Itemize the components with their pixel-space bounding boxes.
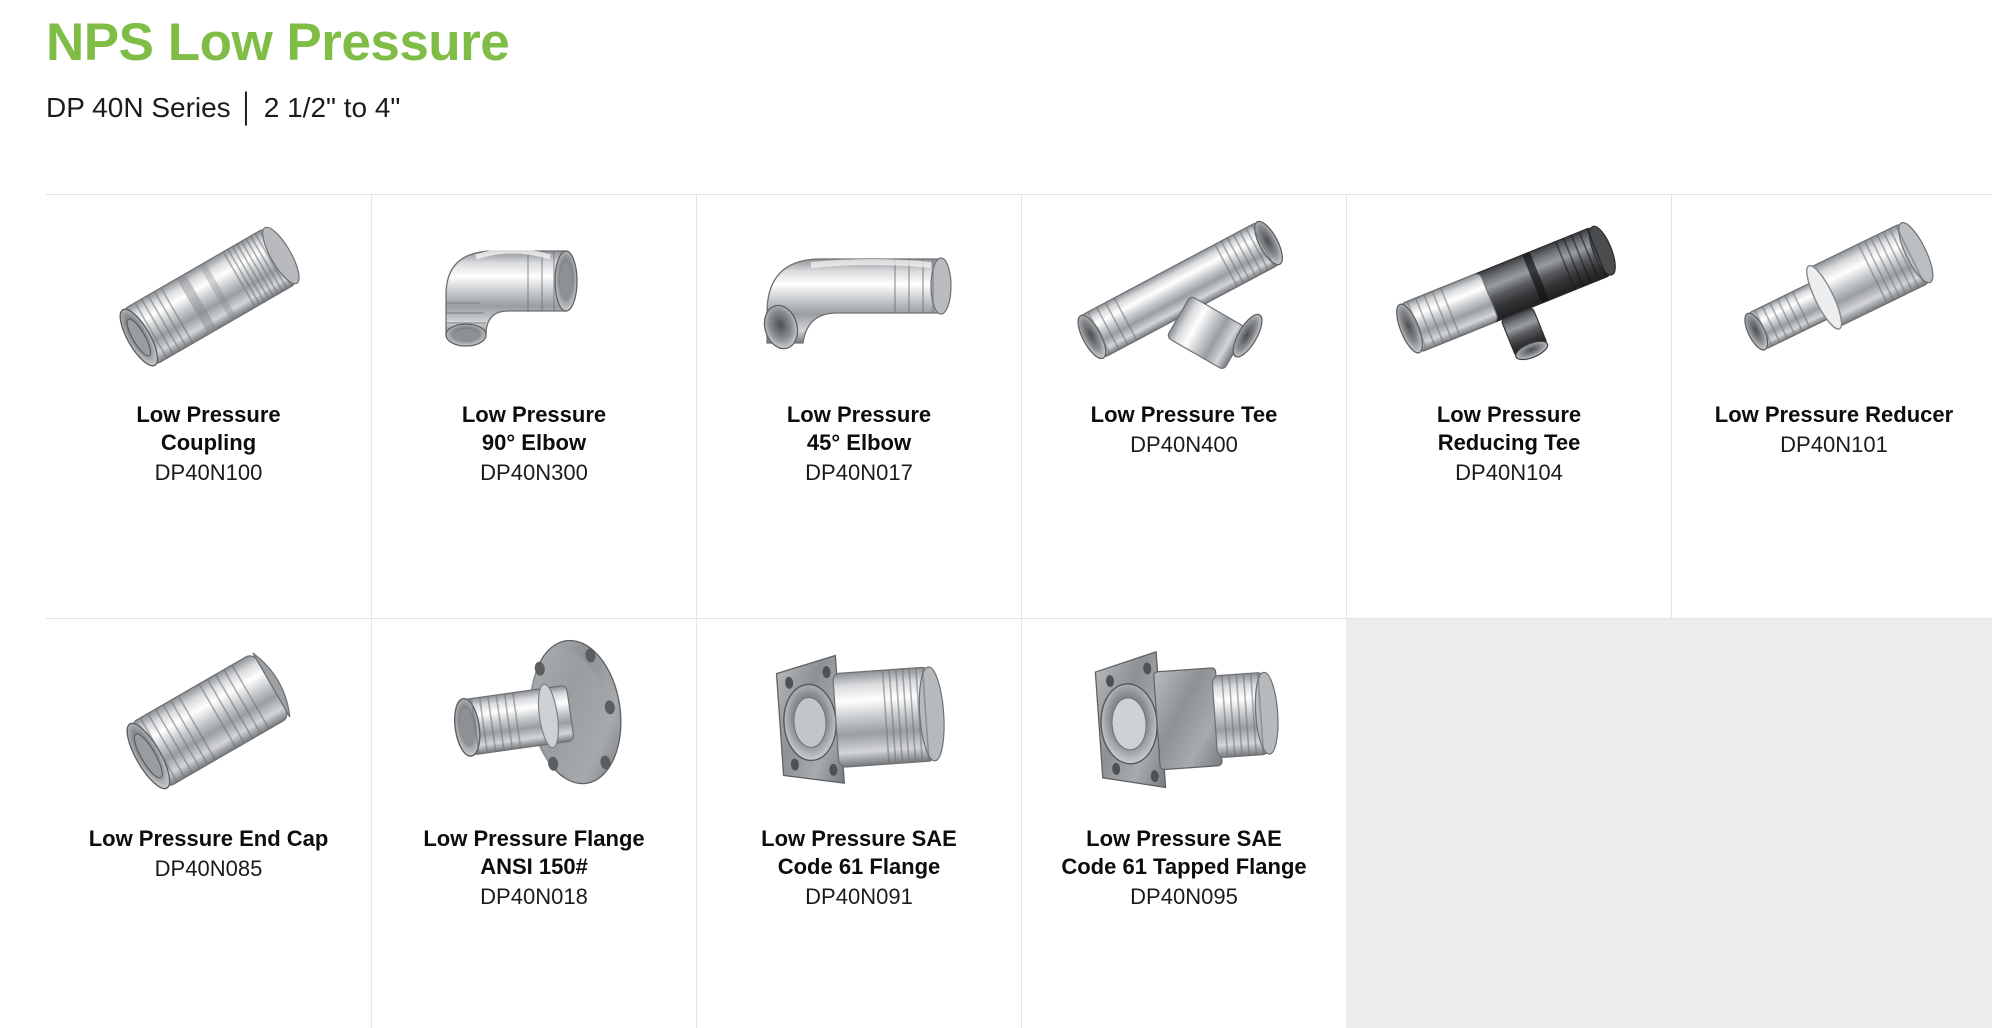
product-grid-background: Low Pressure CouplingDP40N100 Low Pressu… [46,194,1992,1028]
product-name: Low Pressure 90° Elbow [382,401,686,457]
product-grid: Low Pressure CouplingDP40N100 Low Pressu… [46,194,1992,1028]
elbow-90-render [382,199,686,395]
product-name: Low Pressure Coupling [56,401,361,457]
product-code: DP40N091 [707,882,1011,911]
product-caption: Low Pressure ReducerDP40N101 [1682,401,1986,459]
product-name: Low Pressure Flange ANSI 150# [382,825,686,881]
sae-flange-render [707,623,1011,819]
product-caption: Low Pressure Reducing TeeDP40N104 [1357,401,1661,487]
product-name: Low Pressure 45° Elbow [707,401,1011,457]
page-title: NPS Low Pressure [46,12,1992,75]
product-cell[interactable]: Low Pressure 90° ElbowDP40N300 [371,195,696,619]
product-name: Low Pressure Reducer [1682,401,1986,429]
product-caption: Low Pressure TeeDP40N400 [1032,401,1336,459]
product-cell[interactable]: Low Pressure End CapDP40N085 [46,619,371,1028]
product-cell[interactable]: Low Pressure CouplingDP40N100 [46,195,371,619]
product-name: Low Pressure End Cap [56,825,361,853]
product-caption: Low Pressure 90° ElbowDP40N300 [382,401,686,487]
product-caption: Low Pressure CouplingDP40N100 [56,401,361,487]
product-caption: Low Pressure End CapDP40N085 [56,825,361,883]
product-cell[interactable]: Low Pressure SAE Code 61 FlangeDP40N091 [696,619,1021,1028]
product-name: Low Pressure Tee [1032,401,1336,429]
product-cell[interactable]: Low Pressure ReducerDP40N101 [1671,195,1992,619]
product-caption: Low Pressure SAE Code 61 FlangeDP40N091 [707,825,1011,911]
reducing-tee-render [1357,199,1661,395]
sae-tapped-flange-render [1032,623,1336,819]
coupling-render [56,199,361,395]
tee-render [1032,199,1336,395]
product-code: DP40N095 [1032,882,1336,911]
empty-grid-cell [1671,619,1992,1028]
ansi-flange-render [382,623,686,819]
product-code: DP40N101 [1682,430,1986,459]
product-cell[interactable]: Low Pressure Reducing TeeDP40N104 [1346,195,1671,619]
product-code: DP40N400 [1032,430,1336,459]
product-cell[interactable]: Low Pressure 45° ElbowDP40N017 [696,195,1021,619]
empty-grid-cell [1346,619,1671,1028]
product-caption: Low Pressure 45° ElbowDP40N017 [707,401,1011,487]
product-name: Low Pressure Reducing Tee [1357,401,1661,457]
product-caption: Low Pressure SAE Code 61 Tapped FlangeDP… [1032,825,1336,911]
end-cap-render [56,623,361,819]
product-catalog-page: NPS Low Pressure DP 40N Series │ 2 1/2" … [0,0,1992,1028]
product-code: DP40N100 [56,458,361,487]
page-subtitle: DP 40N Series │ 2 1/2" to 4" [46,91,1992,125]
product-name: Low Pressure SAE Code 61 Tapped Flange [1032,825,1336,881]
product-caption: Low Pressure Flange ANSI 150#DP40N018 [382,825,686,911]
product-code: DP40N300 [382,458,686,487]
product-code: DP40N104 [1357,458,1661,487]
product-code: DP40N018 [382,882,686,911]
product-cell[interactable]: Low Pressure Flange ANSI 150#DP40N018 [371,619,696,1028]
elbow-45-render [707,199,1011,395]
product-code: DP40N085 [56,854,361,883]
product-name: Low Pressure SAE Code 61 Flange [707,825,1011,881]
product-code: DP40N017 [707,458,1011,487]
reducer-render [1682,199,1986,395]
product-cell[interactable]: Low Pressure TeeDP40N400 [1021,195,1346,619]
product-cell[interactable]: Low Pressure SAE Code 61 Tapped FlangeDP… [1021,619,1346,1028]
page-header: NPS Low Pressure DP 40N Series │ 2 1/2" … [0,0,1992,124]
